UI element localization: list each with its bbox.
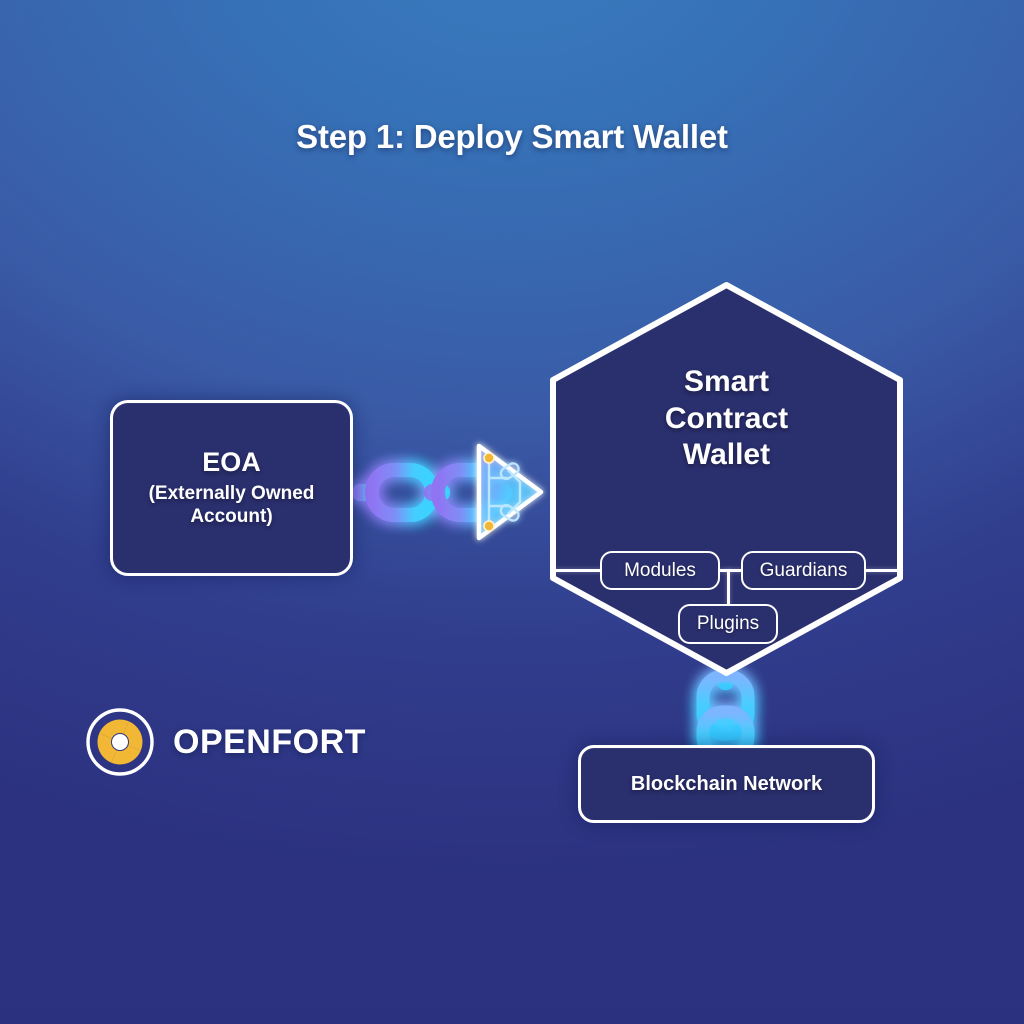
chip-plugins[interactable]: Plugins [678, 604, 778, 644]
openfort-logo: OPENFORT [84, 706, 366, 778]
blockchain-network-node[interactable]: Blockchain Network [578, 745, 875, 823]
diagram-canvas: Step 1: Deploy Smart Wallet [0, 0, 1024, 1024]
connector-left-rail [553, 569, 603, 572]
chain-arrow-icon [352, 470, 512, 515]
eoa-subtitle: (Externally Owned Account) [113, 482, 350, 528]
openfort-logo-icon [84, 706, 156, 778]
chain-link-icon [703, 668, 748, 756]
blockchain-network-label: Blockchain Network [631, 773, 822, 796]
arrow-head-icon [479, 446, 541, 538]
eoa-title: EOA [202, 448, 261, 478]
chip-plugins-label: Plugins [697, 613, 759, 635]
page-title: Step 1: Deploy Smart Wallet [0, 118, 1024, 156]
chip-guardians[interactable]: Guardians [741, 551, 866, 590]
chip-modules[interactable]: Modules [600, 551, 720, 590]
openfort-wordmark: OPENFORT [173, 723, 366, 762]
chip-guardians-label: Guardians [760, 560, 848, 582]
eoa-node[interactable]: EOA (Externally Owned Account) [110, 400, 353, 576]
connector-right-rail [863, 569, 901, 572]
chip-modules-label: Modules [624, 560, 696, 582]
